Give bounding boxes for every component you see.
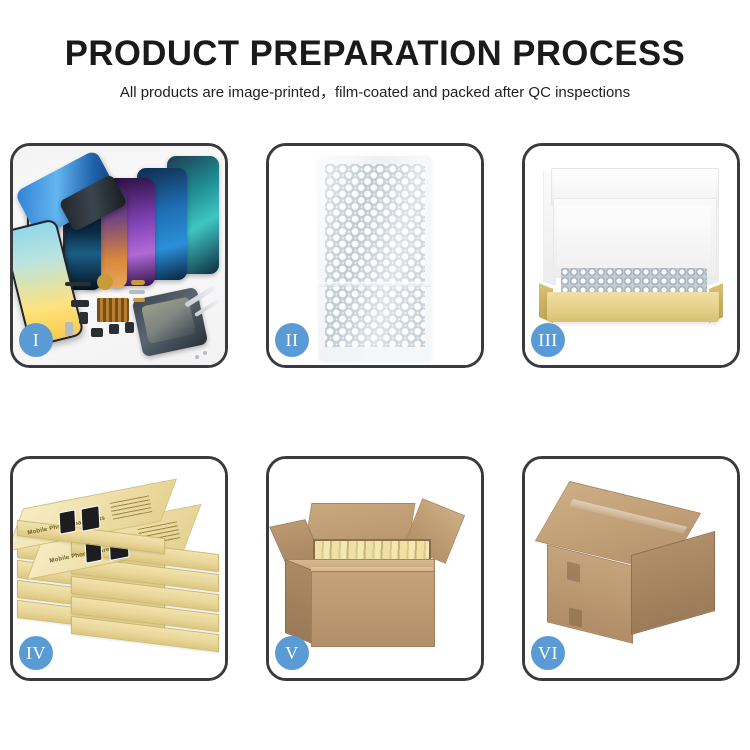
step-panel-1: I Phone screens, displays and mobile pho…	[10, 143, 228, 368]
page-title: PRODUCT PREPARATION PROCESS	[4, 34, 747, 74]
step-panel-5: V Boxes loaded into outer shipping carto…	[266, 456, 484, 681]
part-screw-1	[203, 351, 207, 355]
part-camera-module	[79, 312, 88, 324]
carton-front-panel	[311, 571, 435, 647]
step-badge-2: II	[275, 323, 309, 357]
carton-hand-hole-top	[567, 561, 580, 582]
page-subtitle: All products are image-printed，film-coat…	[0, 82, 750, 104]
header: PRODUCT PREPARATION PROCESS All products…	[0, 34, 750, 104]
step-badge-5: V	[275, 636, 309, 670]
foam-liner	[557, 206, 711, 268]
part-button-flex	[131, 280, 145, 285]
step-badge-3: III	[531, 323, 565, 357]
part-speaker	[97, 274, 113, 290]
step-badge-4: IV	[19, 636, 53, 670]
step-panel-4: Mobile Phone Spare Parts Mobile Phone Sp…	[10, 456, 228, 681]
step-badge-6: VI	[531, 636, 565, 670]
part-sim-tray	[125, 322, 134, 333]
process-steps-grid: I Phone screens, displays and mobile pho…	[10, 143, 740, 681]
part-antenna-flex	[133, 298, 145, 302]
part-receiver	[91, 328, 103, 337]
inner-box-front-panel	[547, 292, 719, 322]
carton-hand-hole-bottom	[569, 607, 582, 627]
box-screen-graphic-1	[59, 509, 77, 534]
step-panel-3: III Wrapped item placed in foam-lined in…	[522, 143, 740, 368]
part-screw-2	[195, 355, 199, 359]
part-connector	[71, 300, 89, 307]
bubble-wrap-sheet	[319, 156, 431, 361]
part-sensor	[65, 322, 73, 336]
part-vibrator	[109, 324, 119, 334]
step-panel-6: VI Carton taped and sealed for shipment	[522, 456, 740, 681]
part-flex-strip	[65, 282, 91, 286]
step-badge-1: I	[19, 323, 53, 357]
bubble-wrap-sheen	[319, 156, 431, 361]
part-bracket	[129, 290, 145, 294]
step-panel-2: II Item wrapped in bubble film	[266, 143, 484, 368]
box-screen-graphic-2	[81, 505, 101, 532]
part-chip-array	[97, 298, 129, 322]
product-preparation-infographic: PRODUCT PREPARATION PROCESS All products…	[0, 0, 750, 750]
